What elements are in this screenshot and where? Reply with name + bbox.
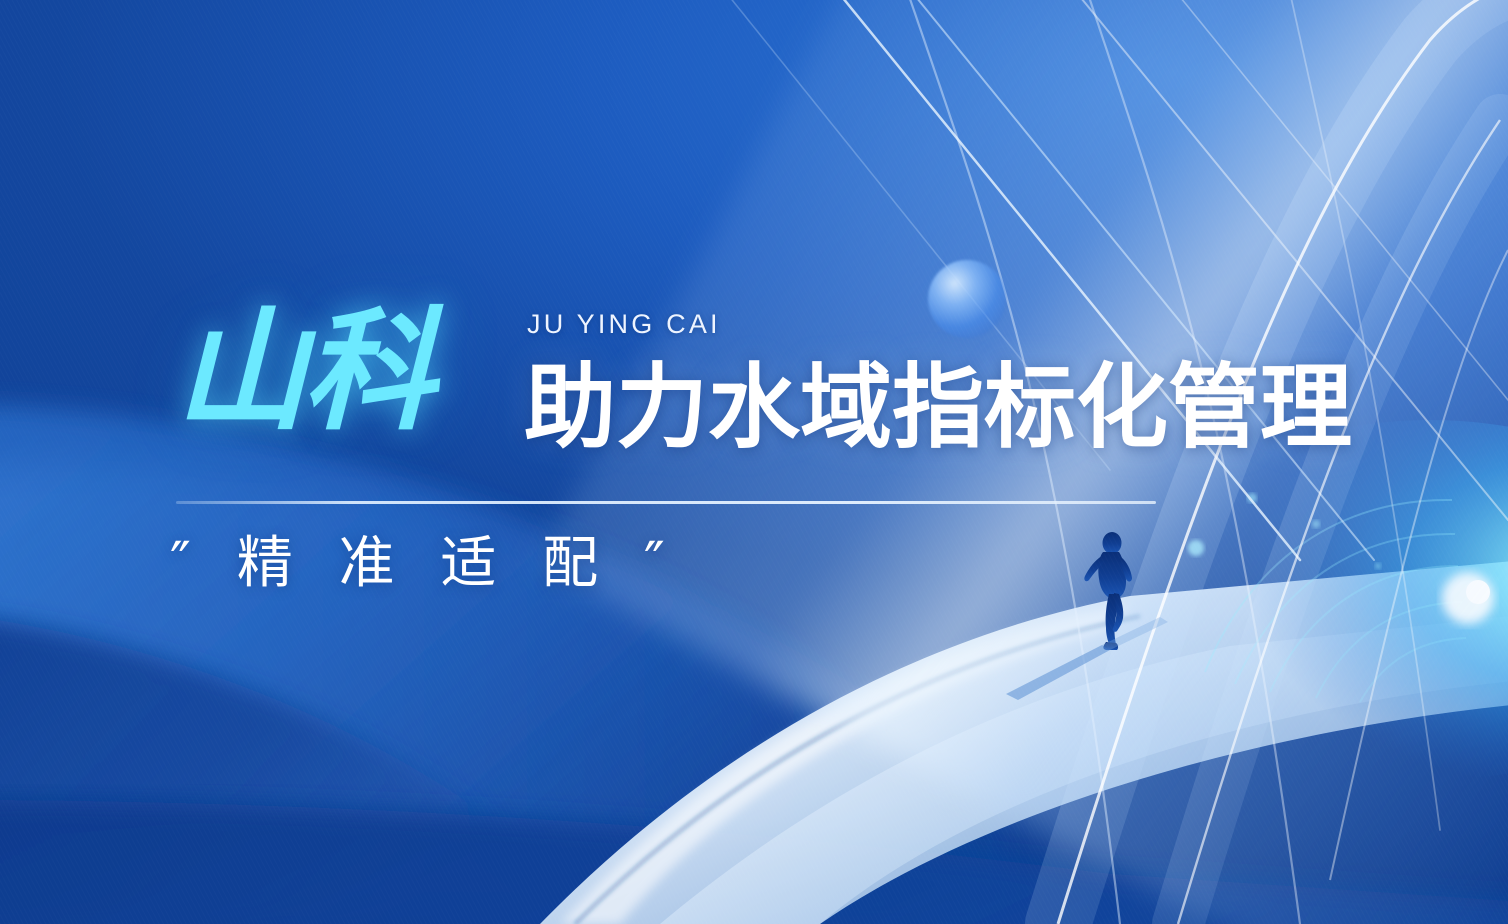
subtitle-text: ″ 精 准 适 配 ″ bbox=[170, 536, 679, 592]
brand-pinyin: JU YING CAI bbox=[527, 309, 721, 340]
brand-logo-text: 山科 bbox=[175, 306, 431, 438]
brand-logo: 山科 bbox=[175, 306, 431, 438]
divider-line bbox=[176, 501, 1156, 504]
banner-content: 山科 JU YING CAI 助力水域指标化管理 ″ 精 准 适 配 ″ bbox=[0, 0, 1508, 924]
headline-text: 助力水域指标化管理 bbox=[524, 362, 1352, 454]
promo-banner: 山科 JU YING CAI 助力水域指标化管理 ″ 精 准 适 配 ″ bbox=[0, 0, 1508, 924]
